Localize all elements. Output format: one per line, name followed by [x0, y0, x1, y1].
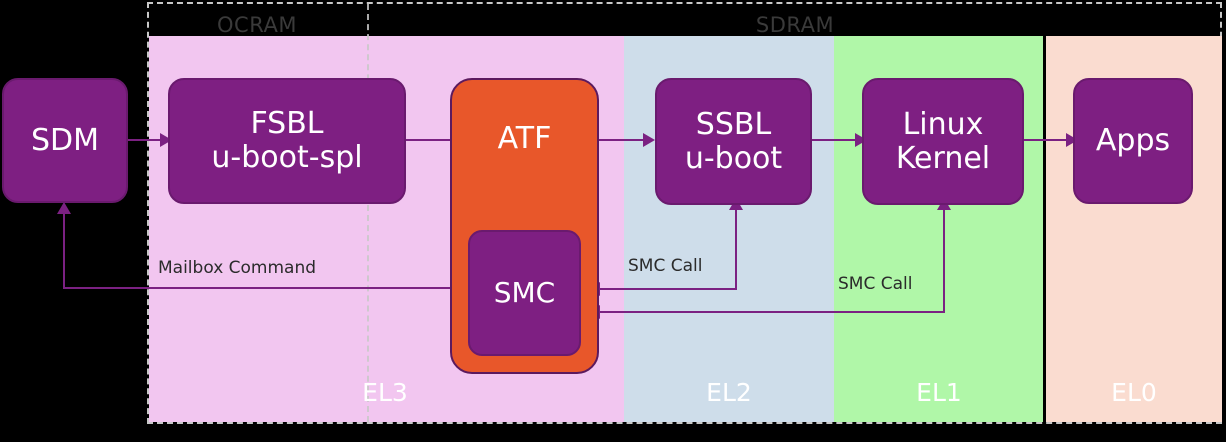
box-smc[interactable]: SMC	[468, 230, 581, 356]
box-ssbl-label-line1: SSBL	[657, 108, 810, 142]
box-kernel[interactable]: Linux Kernel	[862, 78, 1024, 205]
box-fsbl-label-line2: u-boot-spl	[170, 141, 404, 175]
edge-sdm-to-fsbl-line	[128, 139, 164, 141]
box-apps-label: Apps	[1075, 124, 1191, 158]
band-label-el2: EL2	[669, 378, 789, 407]
band-divider-el1-el0	[1043, 36, 1046, 422]
edge-smc-to-sdm-hline	[63, 287, 459, 289]
band-label-el0: EL0	[1074, 378, 1194, 407]
edge-atf-to-ssbl-line	[597, 139, 647, 141]
edge-kernel-to-apps-line	[1024, 139, 1072, 141]
memory-divider-ocram-sdram	[367, 4, 369, 422]
edge-smc-to-sdm-arrowhead	[57, 202, 71, 214]
box-ssbl[interactable]: SSBL u-boot	[655, 78, 812, 205]
band-label-el3: EL3	[325, 378, 445, 407]
box-atf-label: ATF	[452, 122, 597, 156]
band-label-el1: EL1	[879, 378, 999, 407]
edge-ssbl-to-smc-hline	[600, 288, 737, 290]
edge-kernel-to-smc-vline	[943, 208, 945, 312]
edge-label-mailbox-command: Mailbox Command	[158, 258, 316, 278]
box-fsbl[interactable]: FSBL u-boot-spl	[168, 78, 406, 204]
box-sdm-label: SDM	[4, 124, 126, 158]
box-fsbl-label-line1: FSBL	[170, 107, 404, 141]
box-apps[interactable]: Apps	[1073, 78, 1193, 204]
edge-atf-to-ssbl-arrowhead	[643, 133, 655, 147]
edge-label-smc-call-el1: SMC Call	[838, 274, 912, 294]
box-ssbl-label-line2: u-boot	[657, 142, 810, 176]
edge-kernel-to-smc-hline	[600, 311, 945, 313]
box-kernel-label-line1: Linux	[864, 108, 1022, 142]
box-kernel-label-line2: Kernel	[864, 142, 1022, 176]
edge-ssbl-to-smc-vline	[735, 208, 737, 289]
box-sdm[interactable]: SDM	[2, 78, 128, 203]
edge-label-smc-call-el2: SMC Call	[628, 256, 702, 276]
memory-label-sdram: SDRAM	[715, 13, 875, 37]
diagram-canvas: OCRAM SDRAM EL3 EL2 EL1 EL0 Mailbox Comm…	[0, 0, 1226, 442]
edge-smc-to-sdm-vline	[63, 212, 65, 288]
memory-label-ocram: OCRAM	[177, 13, 337, 37]
edge-ssbl-to-kernel-line	[812, 139, 860, 141]
box-smc-label: SMC	[470, 277, 579, 308]
